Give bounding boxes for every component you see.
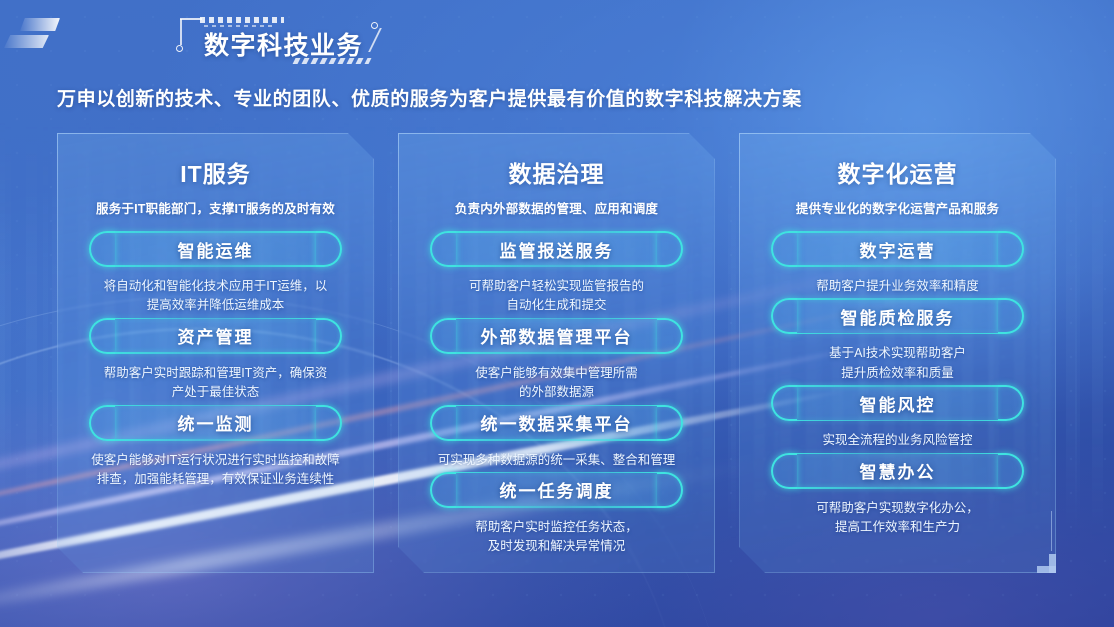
pill-edge-top [795,453,1000,455]
pill-label: 统一数据采集平台 [481,410,633,435]
card-subtitle: 服务于IT职能部门，支撑IT服务的及时有效 [75,198,356,217]
pill-button[interactable]: 监管报送服务 [430,231,683,267]
desc-line: 产处于最佳状态 [81,383,350,402]
pill-bracket-right-icon [657,405,683,441]
item-description: 使客户能够有效集中管理所需 的外部数据源 [422,364,691,403]
pill-edge-bottom [113,265,318,267]
pill-edge-bottom [454,439,659,441]
desc-line: 基于AI技术实现帮助客户 [763,344,1032,363]
banner-dashes-bottom [293,58,372,64]
banner-dot-right-icon [371,22,378,29]
headline: 万申以创新的技术、专业的团队、优质的服务为客户提供最有价值的数字科技解决方案 [57,84,802,111]
pill-edge-bottom [795,265,1000,267]
desc-line: 使客户能够对IT运行状况进行实时监控和故障 [81,451,350,470]
pill-label: 智能运维 [178,237,254,262]
pill-edge-bottom [795,420,1000,422]
pill-bracket-left-icon [771,453,797,489]
page-title: 数字科技业务 [204,26,363,62]
pill-edge-bottom [454,506,659,508]
desc-line: 提高效率并降低运维成本 [81,296,350,315]
pill-edge-top [795,231,1000,233]
desc-line: 可帮助客户实现数字化办公， [763,499,1032,518]
card-title: 数据治理 [416,155,697,189]
pill-bracket-left-icon [89,405,115,441]
pill-label: 智能质检服务 [841,304,955,329]
pill-edge-top [795,298,1000,300]
desc-line: 自动化生成和提交 [422,296,691,315]
pill-label: 统一任务调度 [500,477,614,502]
pill-label: 外部数据管理平台 [481,323,633,348]
item-description: 帮助客户提升业务效率和精度 [763,277,1032,296]
card-item-list: 智能运维 将自动化和智能化技术应用于IT运维，以 提高效率并降低运维成本 资产管… [75,231,356,489]
pill-bracket-left-icon [430,231,456,267]
desc-line: 的外部数据源 [422,383,691,402]
pill-button[interactable]: 统一监测 [89,405,342,441]
pill-edge-bottom [113,352,318,354]
item-description: 可帮助客户实现数字化办公， 提高工作效率和生产力 [763,499,1032,538]
pill-edge-bottom [454,352,659,354]
desc-line: 排查，加强能耗管理，有效保证业务连续性 [81,470,350,489]
pill-edge-top [454,472,659,474]
pill-label: 智能风控 [860,391,936,416]
pill-button[interactable]: 智能风控 [771,385,1024,421]
pill-bracket-left-icon [771,298,797,334]
item-description: 使客户能够对IT运行状况进行实时监控和故障 排查，加强能耗管理，有效保证业务连续… [81,451,350,490]
pill-edge-top [113,231,318,233]
logo-slash-upper [20,18,60,31]
pill-bracket-right-icon [316,318,342,354]
banner: 数字科技业务 [178,14,378,66]
pill-bracket-right-icon [657,231,683,267]
card-data-governance: 数据治理 负责内外部数据的管理、应用和调度 监管报送服务 可帮助客户轻松实现监管… [398,133,715,573]
pill-bracket-right-icon [998,385,1024,421]
item-description: 可帮助客户轻松实现监管报告的 自动化生成和提交 [422,277,691,316]
pill-bracket-left-icon [430,318,456,354]
card-accent-line-vertical [1051,511,1052,551]
pill-label: 统一监测 [178,410,254,435]
list-item: 外部数据管理平台 使客户能够有效集中管理所需 的外部数据源 [416,318,697,403]
card-subtitle: 提供专业化的数字化运营产品和服务 [757,198,1038,217]
pill-bracket-right-icon [657,318,683,354]
pill-bracket-left-icon [89,318,115,354]
pill-bracket-left-icon [771,231,797,267]
item-description: 基于AI技术实现帮助客户 提升质检效率和质量 [763,344,1032,383]
pill-edge-bottom [795,487,1000,489]
card-subtitle: 负责内外部数据的管理、应用和调度 [416,198,697,217]
desc-line: 可帮助客户轻松实现监管报告的 [422,277,691,296]
item-description: 将自动化和智能化技术应用于IT运维，以 提高效率并降低运维成本 [81,277,350,316]
pill-edge-bottom [454,265,659,267]
desc-line: 提升质检效率和质量 [763,364,1032,383]
pill-button[interactable]: 统一数据采集平台 [430,405,683,441]
pill-edge-top [454,231,659,233]
desc-line: 帮助客户实时监控任务状态， [422,518,691,537]
item-description: 可实现多种数据源的统一采集、整合和管理 [422,451,691,470]
list-item: 智能质检服务 基于AI技术实现帮助客户 提升质检效率和质量 [757,298,1038,383]
card-title: IT服务 [75,155,356,189]
pill-bracket-right-icon [998,453,1024,489]
pill-button[interactable]: 智能运维 [89,231,342,267]
item-description: 帮助客户实时监控任务状态， 及时发现和解决异常情况 [422,518,691,557]
item-description: 实现全流程的业务风险管控 [763,431,1032,450]
list-item: 智能风控 实现全流程的业务风险管控 [757,385,1038,450]
pill-edge-bottom [113,439,318,441]
pill-button[interactable]: 外部数据管理平台 [430,318,683,354]
item-description: 帮助客户实时跟踪和管理IT资产，确保资 产处于最佳状态 [81,364,350,403]
pill-label: 数字运营 [860,237,936,262]
pill-button[interactable]: 智能质检服务 [771,298,1024,334]
pill-bracket-right-icon [316,405,342,441]
pill-button[interactable]: 统一任务调度 [430,472,683,508]
logo-slash-lower [4,35,49,48]
desc-line: 使客户能够有效集中管理所需 [422,364,691,383]
pill-bracket-left-icon [430,405,456,441]
desc-line: 帮助客户提升业务效率和精度 [763,277,1032,296]
pill-label: 监管报送服务 [500,237,614,262]
banner-line-left [180,18,202,20]
list-item: 统一任务调度 帮助客户实时监控任务状态， 及时发现和解决异常情况 [416,472,697,557]
desc-line: 及时发现和解决异常情况 [422,537,691,556]
list-item: 监管报送服务 可帮助客户轻松实现监管报告的 自动化生成和提交 [416,231,697,316]
card-item-list: 监管报送服务 可帮助客户轻松实现监管报告的 自动化生成和提交 外部数据管理平台 [416,231,697,557]
desc-line: 将自动化和智能化技术应用于IT运维，以 [81,277,350,296]
card-item-list: 数字运营 帮助客户提升业务效率和精度 智能质检服务 基于AI技术实现帮助客户 [757,231,1038,537]
pill-label: 智慧办公 [860,458,936,483]
pill-bracket-right-icon [998,231,1024,267]
pill-button[interactable]: 数字运营 [771,231,1024,267]
list-item: 数字运营 帮助客户提升业务效率和精度 [757,231,1038,296]
pill-bracket-right-icon [657,472,683,508]
pill-bracket-right-icon [998,298,1024,334]
banner-diagonal-left [180,19,182,45]
card-container: IT服务 服务于IT职能部门，支撑IT服务的及时有效 智能运维 将自动化和智能化… [57,133,1057,573]
list-item: 资产管理 帮助客户实时跟踪和管理IT资产，确保资 产处于最佳状态 [75,318,356,403]
pill-bracket-left-icon [430,472,456,508]
card-title: 数字化运营 [757,155,1038,189]
card-it-service: IT服务 服务于IT职能部门，支撑IT服务的及时有效 智能运维 将自动化和智能化… [57,133,374,573]
pill-label: 资产管理 [178,323,254,348]
banner-dashes-top [200,17,284,23]
list-item: 智能运维 将自动化和智能化技术应用于IT运维，以 提高效率并降低运维成本 [75,231,356,316]
list-item: 统一数据采集平台 可实现多种数据源的统一采集、整合和管理 [416,405,697,470]
pill-bracket-left-icon [89,231,115,267]
pill-edge-top [113,405,318,407]
banner-dot-left-icon [176,45,183,52]
pill-edge-top [795,385,1000,387]
corner-logo-icon [4,18,60,58]
corner-accent-icon [1033,550,1059,576]
pill-button[interactable]: 智慧办公 [771,453,1024,489]
desc-line: 可实现多种数据源的统一采集、整合和管理 [422,451,691,470]
desc-line: 帮助客户实时跟踪和管理IT资产，确保资 [81,364,350,383]
pill-edge-top [454,318,659,320]
pill-edge-bottom [795,333,1000,335]
pill-edge-top [113,318,318,320]
pill-button[interactable]: 资产管理 [89,318,342,354]
list-item: 智慧办公 可帮助客户实现数字化办公， 提高工作效率和生产力 [757,453,1038,538]
card-digital-operations: 数字化运营 提供专业化的数字化运营产品和服务 数字运营 帮助客户提升业务效率和精… [739,133,1056,573]
desc-line: 实现全流程的业务风险管控 [763,431,1032,450]
pill-bracket-left-icon [771,385,797,421]
list-item: 统一监测 使客户能够对IT运行状况进行实时监控和故障 排查，加强能耗管理，有效保… [75,405,356,490]
desc-line: 提高工作效率和生产力 [763,518,1032,537]
pill-edge-top [454,405,659,407]
pill-bracket-right-icon [316,231,342,267]
